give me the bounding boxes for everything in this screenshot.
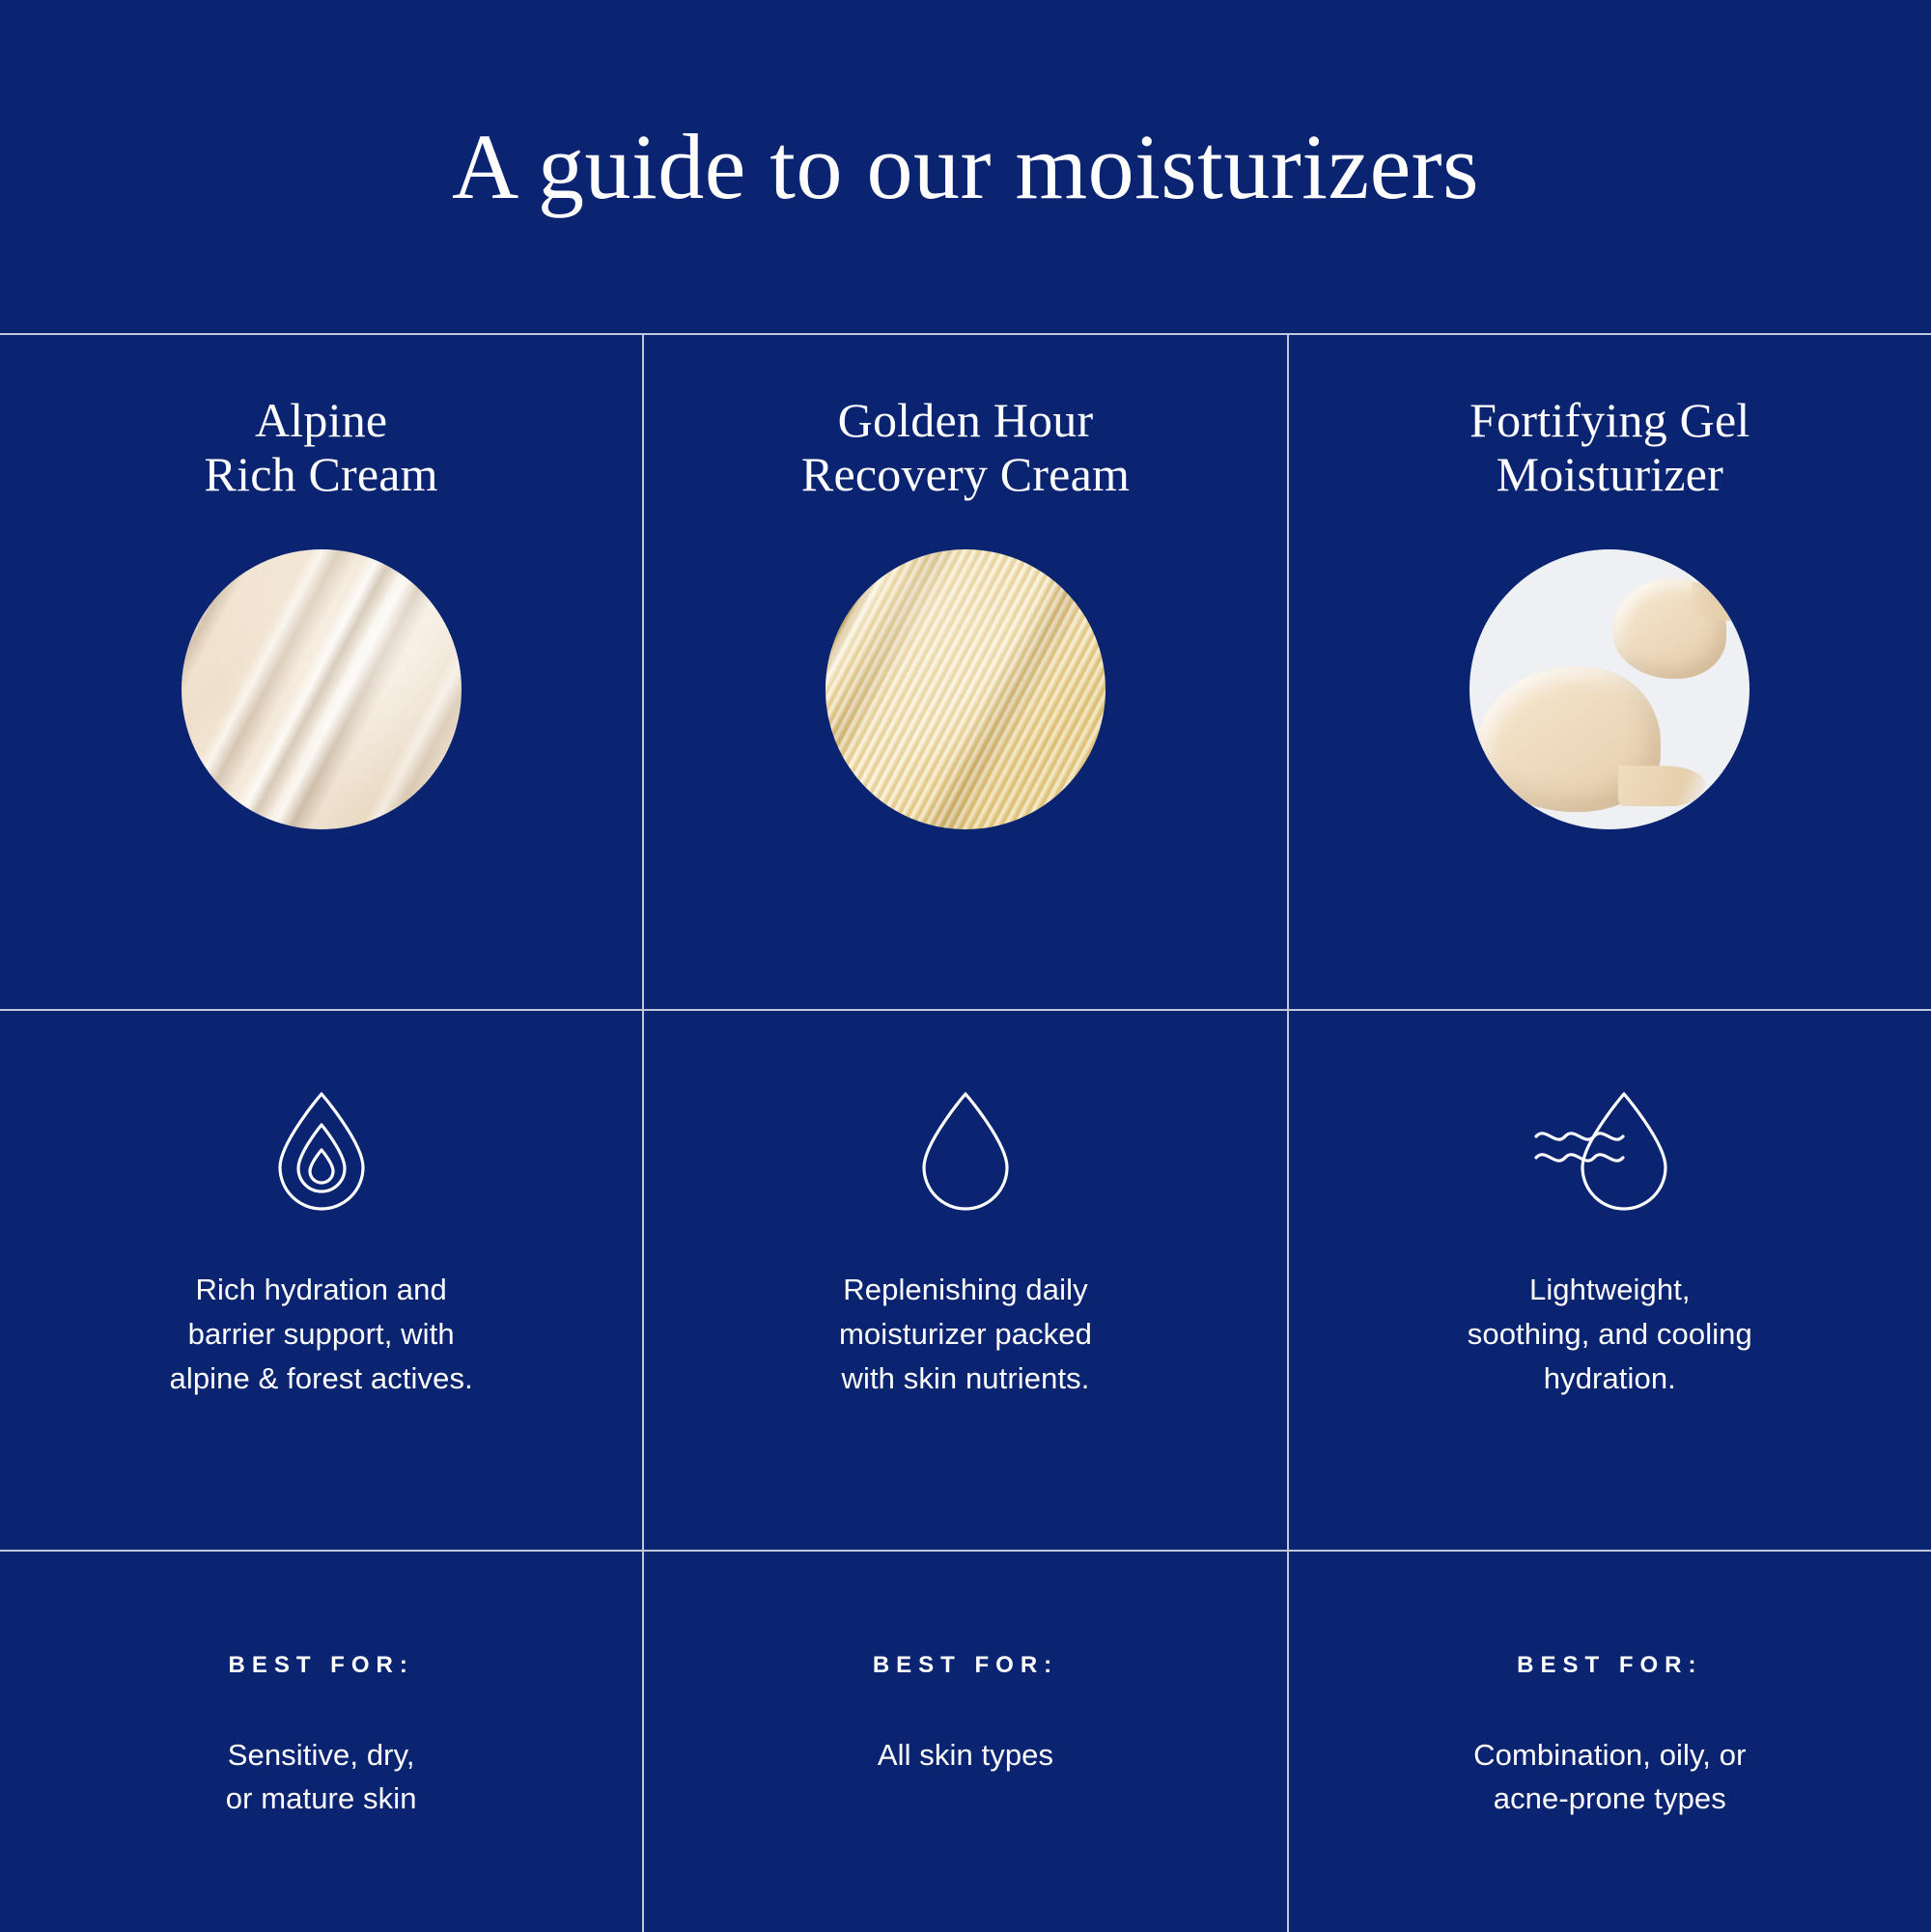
best-for-cell-fortifying-gel: Best for: Combination, oily, or acne-pro…: [1287, 1552, 1931, 1932]
product-name: Golden Hour Recovery Cream: [801, 393, 1130, 509]
best-for-label: Best for:: [1517, 1652, 1702, 1679]
benefit-text: Lightweight, soothing, and cooling hydra…: [1468, 1268, 1752, 1401]
gel-droplet-small: [1612, 578, 1726, 679]
cream-swatch-image: [182, 549, 462, 829]
moisturizer-guide-poster: A guide to our moisturizers Alpine Rich …: [0, 0, 1931, 1932]
droplet-waves-icon: [1525, 1086, 1694, 1212]
benefit-cell-golden-hour: Replenishing daily moisturizer packed wi…: [642, 1011, 1286, 1550]
best-for-label: Best for:: [229, 1652, 414, 1679]
page-title: A guide to our moisturizers: [452, 121, 1479, 213]
benefit-cell-alpine: Rich hydration and barrier support, with…: [0, 1011, 642, 1550]
best-for-cell-alpine: Best for: Sensitive, dry, or mature skin: [0, 1552, 642, 1932]
benefit-cell-fortifying-gel: Lightweight, soothing, and cooling hydra…: [1287, 1011, 1931, 1550]
benefits-row: Rich hydration and barrier support, with…: [0, 1011, 1931, 1552]
products-row: Alpine Rich Cream Golden Hour Recovery C…: [0, 335, 1931, 1011]
droplet-icon: [909, 1086, 1022, 1212]
best-for-value: Sensitive, dry, or mature skin: [226, 1733, 417, 1821]
gel-droplets-swatch-image: [1469, 549, 1749, 829]
gel-droplet-large: [1477, 667, 1661, 812]
product-column-golden-hour[interactable]: Golden Hour Recovery Cream: [642, 335, 1286, 1009]
best-for-value: All skin types: [878, 1733, 1053, 1777]
comparison-grid: Alpine Rich Cream Golden Hour Recovery C…: [0, 333, 1931, 1932]
product-name: Fortifying Gel Moisturizer: [1469, 393, 1749, 509]
benefit-text: Replenishing daily moisturizer packed wi…: [839, 1268, 1092, 1401]
product-column-alpine[interactable]: Alpine Rich Cream: [0, 335, 642, 1009]
product-column-fortifying-gel[interactable]: Fortifying Gel Moisturizer: [1287, 335, 1931, 1009]
poster-header: A guide to our moisturizers: [0, 0, 1931, 333]
product-name: Alpine Rich Cream: [205, 393, 438, 509]
best-for-cell-golden-hour: Best for: All skin types: [642, 1552, 1286, 1932]
golden-cream-swatch-image: [826, 549, 1105, 829]
best-for-row: Best for: Sensitive, dry, or mature skin…: [0, 1552, 1931, 1932]
benefit-text: Rich hydration and barrier support, with…: [170, 1268, 473, 1401]
best-for-label: Best for:: [873, 1652, 1058, 1679]
nested-droplet-icon: [265, 1086, 378, 1212]
best-for-value: Combination, oily, or acne-prone types: [1473, 1733, 1746, 1821]
